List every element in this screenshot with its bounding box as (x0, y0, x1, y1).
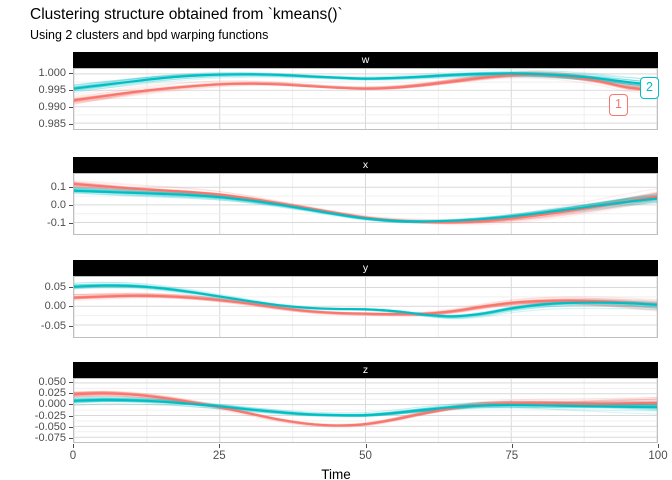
y-tick-label-z-1: 0.025 (38, 387, 66, 399)
y-tick-label-w-0: 1.000 (38, 67, 66, 79)
y-tick-mark-y-1 (69, 306, 73, 307)
facet-panel-w: w (73, 52, 658, 130)
y-tick-label-x-1: 0.0 (51, 199, 66, 211)
y-tick-mark-w-1 (69, 90, 73, 91)
x-tick-label-1: 25 (213, 450, 226, 462)
y-tick-label-z-5: -0.075 (35, 432, 66, 444)
y-tick-mark-w-0 (69, 73, 73, 74)
y-tick-label-z-3: -0.025 (35, 410, 66, 422)
y-tick-label-y-0: 0.05 (45, 281, 66, 293)
y-tick-mark-z-5 (69, 438, 73, 439)
y-tick-mark-z-2 (69, 404, 73, 405)
y-tick-mark-w-2 (69, 107, 73, 108)
gridlines (74, 174, 657, 234)
cluster-label-1[interactable]: 1 (609, 94, 628, 116)
y-tick-label-w-3: 0.985 (38, 118, 66, 130)
y-tick-mark-y-2 (69, 326, 73, 327)
y-tick-mark-z-4 (69, 427, 73, 428)
y-tick-label-w-1: 0.995 (38, 84, 66, 96)
facet-panel-z: z (73, 362, 658, 443)
x-tick-label-3: 75 (505, 450, 518, 462)
x-tick-label-4: 100 (648, 450, 667, 462)
facet-strip-label-w: w (73, 52, 658, 68)
y-tick-mark-x-2 (69, 223, 73, 224)
page-title: Clustering structure obtained from `kmea… (30, 6, 343, 24)
page-subtitle: Using 2 clusters and bpd warping functio… (30, 28, 268, 42)
facet-plot-area-z (73, 378, 658, 443)
facet-strip-label-z: z (73, 362, 658, 378)
facet-plot-area-w (73, 68, 658, 130)
cluster-label-2[interactable]: 2 (640, 77, 659, 99)
y-tick-label-z-2: 0.000 (38, 398, 66, 410)
facet-panel-x: x (73, 157, 658, 235)
y-tick-label-x-2: -0.1 (47, 217, 66, 229)
x-tick-mark-4 (658, 444, 659, 448)
x-tick-label-0: 0 (70, 450, 76, 462)
y-tick-mark-y-0 (69, 287, 73, 288)
y-tick-label-w-2: 0.990 (38, 101, 66, 113)
chart-root: Clustering structure obtained from `kmea… (0, 0, 672, 480)
facet-plot-area-x (73, 173, 658, 235)
facet-plot-area-y (73, 276, 658, 338)
y-tick-mark-w-3 (69, 124, 73, 125)
y-tick-mark-z-1 (69, 393, 73, 394)
y-tick-mark-z-0 (69, 382, 73, 383)
y-tick-mark-x-1 (69, 205, 73, 206)
x-tick-mark-2 (366, 444, 367, 448)
x-tick-mark-1 (219, 444, 220, 448)
x-tick-label-2: 50 (359, 450, 372, 462)
facet-strip-label-x: x (73, 157, 658, 173)
x-tick-mark-3 (512, 444, 513, 448)
facet-panel-y: y (73, 260, 658, 338)
y-tick-label-y-2: -0.05 (41, 320, 66, 332)
y-tick-mark-x-0 (69, 187, 73, 188)
facet-strip-label-y: y (73, 260, 658, 276)
y-tick-label-y-1: 0.00 (45, 300, 66, 312)
y-tick-label-x-0: 0.1 (51, 181, 66, 193)
y-tick-label-z-4: -0.050 (35, 421, 66, 433)
y-tick-mark-z-3 (69, 416, 73, 417)
x-axis-title: Time (0, 467, 672, 480)
x-tick-mark-0 (73, 444, 74, 448)
y-tick-label-z-0: 0.050 (38, 376, 66, 388)
